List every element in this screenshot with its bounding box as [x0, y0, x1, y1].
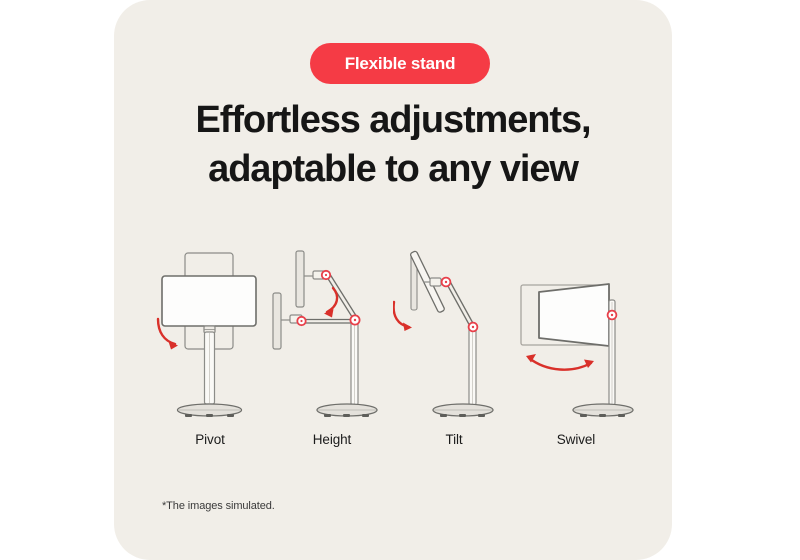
figure-swivel: Swivel	[515, 240, 637, 452]
joint-markers	[442, 278, 478, 332]
adjustment-figures: Pivot	[114, 240, 672, 452]
badge-label: Flexible stand	[345, 54, 456, 74]
monitor-tilt-icon	[393, 240, 515, 428]
figure-height: Height	[271, 240, 393, 452]
figure-label-pivot: Pivot	[195, 432, 225, 452]
figure-tilt: Tilt	[393, 240, 515, 452]
monitor-swivel-icon	[515, 240, 637, 428]
stand-base	[317, 404, 377, 417]
joint-markers	[297, 271, 359, 325]
footnote: *The images simulated.	[162, 500, 275, 512]
page-title: Effortless adjustments, adaptable to any…	[114, 96, 672, 194]
monitor-pivot-icon	[149, 240, 271, 428]
headline-line-2: adaptable to any view	[114, 145, 672, 194]
monitor-height-icon	[271, 240, 393, 428]
stand-base	[178, 404, 242, 417]
height-arrow-icon	[324, 288, 337, 318]
figure-label-height: Height	[313, 432, 351, 452]
swivel-arrow-icon	[526, 354, 594, 370]
joint-marker	[608, 311, 617, 320]
stand-base	[573, 404, 633, 417]
figure-label-tilt: Tilt	[445, 432, 462, 452]
figure-label-swivel: Swivel	[557, 432, 595, 452]
stand-base	[433, 404, 493, 417]
tilt-arrow-icon	[394, 302, 412, 331]
promo-card: Flexible stand Effortless adjustments, a…	[114, 0, 672, 560]
flexible-stand-badge: Flexible stand	[310, 43, 490, 84]
headline-line-1: Effortless adjustments,	[196, 99, 591, 141]
figure-pivot: Pivot	[149, 240, 271, 452]
